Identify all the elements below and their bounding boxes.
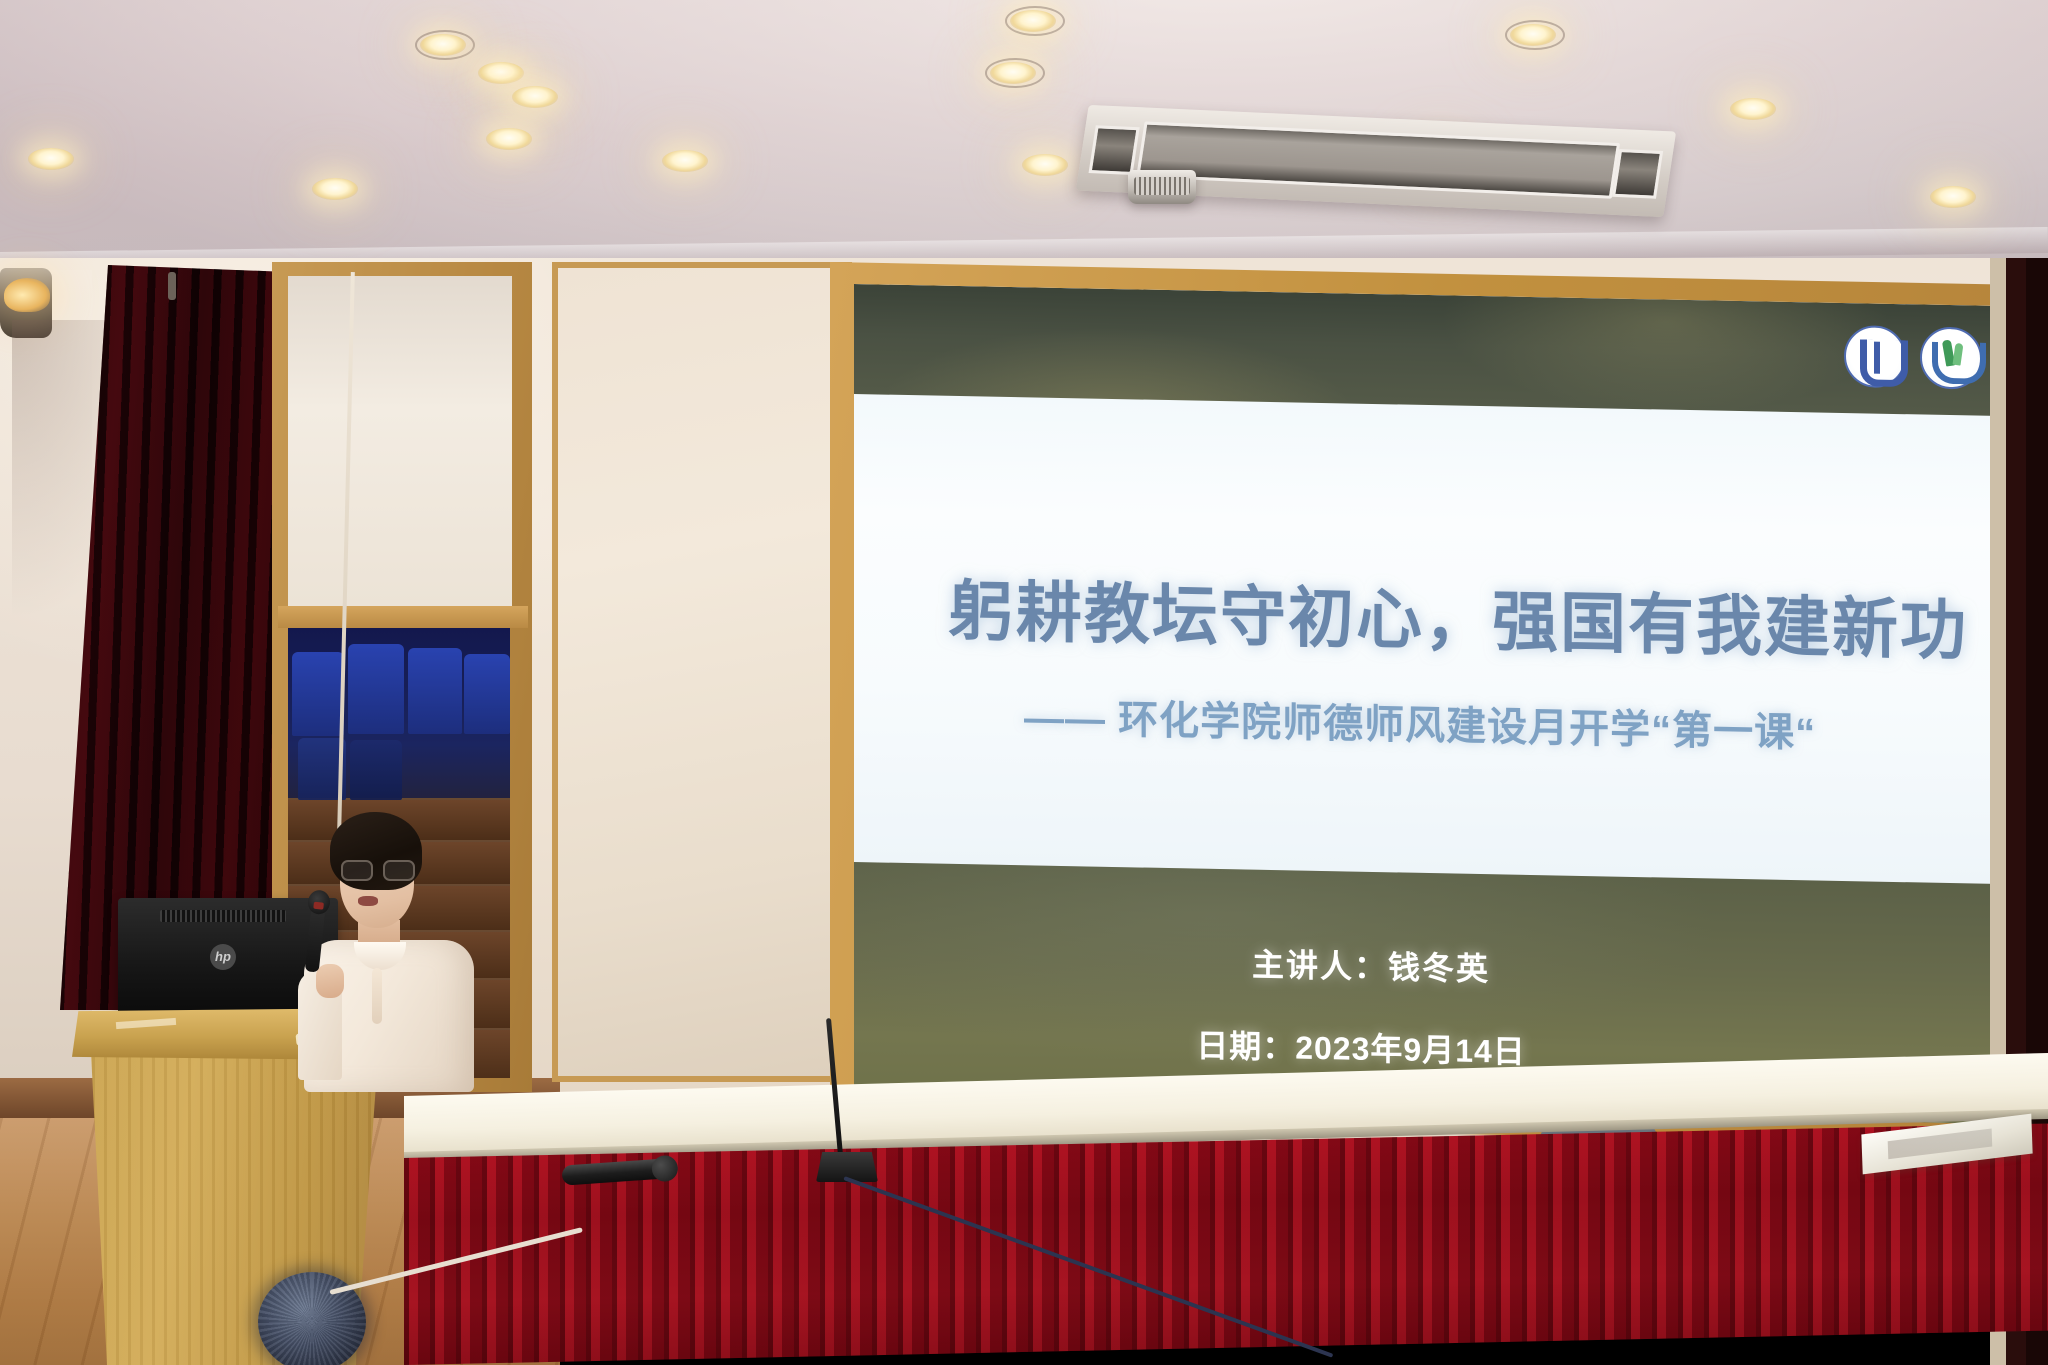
speaker-mouth (358, 896, 378, 906)
auditorium-seat (350, 740, 402, 800)
hp-logo-icon: hp (210, 944, 236, 970)
ceiling-downlight (486, 128, 532, 150)
vent-louver-left (1089, 125, 1140, 175)
ceiling-downlight (1730, 98, 1776, 120)
door-upper-panel (288, 276, 512, 606)
ceiling-downlight (1010, 10, 1056, 32)
wall-sconce-light (4, 278, 50, 312)
curtain-hook (168, 272, 176, 300)
projection-screen: 躬耕教坛守初心，强国有我建新功 —— 环化学院师德师风建设月开学“第一课“ 主讲… (854, 284, 2048, 1125)
ceiling-downlight (28, 148, 74, 170)
vent-grille (1136, 121, 1620, 198)
monitor-vent (160, 910, 286, 922)
auditorium-seat (348, 644, 404, 734)
speaker-hand (316, 964, 344, 998)
slide-logo-group (1844, 325, 1982, 390)
ceiling-downlight (478, 62, 524, 84)
ceiling-downlight (512, 86, 558, 108)
auditorium-seat (464, 654, 510, 734)
vent-louver-right (1612, 149, 1663, 199)
speaker-at-podium (298, 812, 498, 1092)
ceiling-downlight (420, 34, 466, 56)
ceiling-downlight (312, 178, 358, 200)
door-rail (278, 606, 528, 628)
eyeglasses-icon (340, 860, 416, 878)
lecture-hall-photo: 躬耕教坛守初心，强国有我建新功 —— 环化学院师德师风建设月开学“第一课“ 主讲… (0, 0, 2048, 1365)
college-of-environmental-chemical-engineering-logo (1920, 326, 1982, 389)
auditorium-seat (408, 648, 462, 734)
acoustic-wall-panel (552, 262, 852, 1082)
ceiling-downlight (1022, 154, 1068, 176)
auditorium-seat (292, 652, 344, 736)
ceiling-downlight (1930, 186, 1976, 208)
ceiling-smoke-detector (1128, 170, 1196, 204)
shanghai-university-logo (1844, 325, 1906, 388)
speaker-neck-tie (372, 968, 382, 1024)
ceiling-downlight (662, 150, 708, 172)
ceiling-downlight (990, 62, 1036, 84)
ceiling-downlight (1510, 24, 1556, 46)
